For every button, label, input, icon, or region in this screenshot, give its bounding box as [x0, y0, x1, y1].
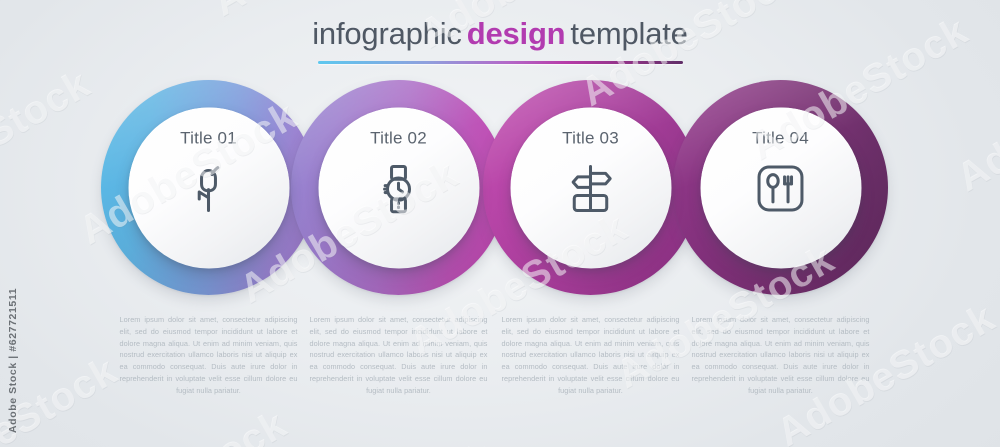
step-3[interactable]: Title 03 Lorem ipsum dolor sit amet, con… — [483, 80, 698, 295]
title-word-design: design — [467, 16, 566, 51]
steps-row: Title 01 Lorem ipsum dolor sit amet, con… — [0, 80, 1000, 410]
header-gradient-rule — [318, 61, 683, 64]
step-1-body: Lorem ipsum dolor sit amet, consectetur … — [120, 314, 298, 397]
step-1-ring: Title 01 — [101, 80, 316, 295]
stock-credit-label: Adobe Stock | #627721511 — [7, 288, 19, 433]
step-3-title: Title 03 — [562, 128, 619, 148]
road-signpost-icon — [560, 157, 622, 219]
infographic-canvas: infographicdesigntemplate Title 01 — [0, 0, 1000, 447]
watermark-text: AdobeStock — [268, 434, 501, 447]
step-2-ring: Title 02 — [291, 80, 506, 295]
step-1[interactable]: Title 01 Lorem ipsum dolor sit amet, con… — [101, 80, 316, 295]
step-2-disc[interactable]: Title 02 — [318, 107, 479, 268]
tulip-flower-icon — [178, 157, 240, 219]
step-4[interactable]: Title 04 Lorem ipsum dolor sit amet, con — [673, 80, 888, 295]
step-3-disc[interactable]: Title 03 — [510, 107, 671, 268]
header: infographicdesigntemplate — [0, 18, 1000, 64]
step-4-title: Title 04 — [752, 128, 809, 148]
step-4-ring: Title 04 — [673, 80, 888, 295]
step-4-body: Lorem ipsum dolor sit amet, consectetur … — [692, 314, 870, 397]
step-2-title: Title 02 — [370, 128, 427, 148]
page-title: infographicdesigntemplate — [0, 18, 1000, 51]
step-4-disc[interactable]: Title 04 — [700, 107, 861, 268]
wrist-watch-icon — [368, 157, 430, 219]
step-1-disc[interactable]: Title 01 — [128, 107, 289, 268]
spoon-and-fork-icon — [750, 157, 812, 219]
step-2-body: Lorem ipsum dolor sit amet, consectetur … — [310, 314, 488, 397]
step-3-ring: Title 03 — [483, 80, 698, 295]
step-1-title: Title 01 — [180, 128, 237, 148]
step-3-body: Lorem ipsum dolor sit amet, consectetur … — [502, 314, 680, 397]
title-word-infographic: infographic — [312, 16, 461, 51]
title-word-template: template — [570, 16, 687, 51]
step-2[interactable]: Title 02 Lorem ipsum dolor sit amet, con — [291, 80, 506, 295]
